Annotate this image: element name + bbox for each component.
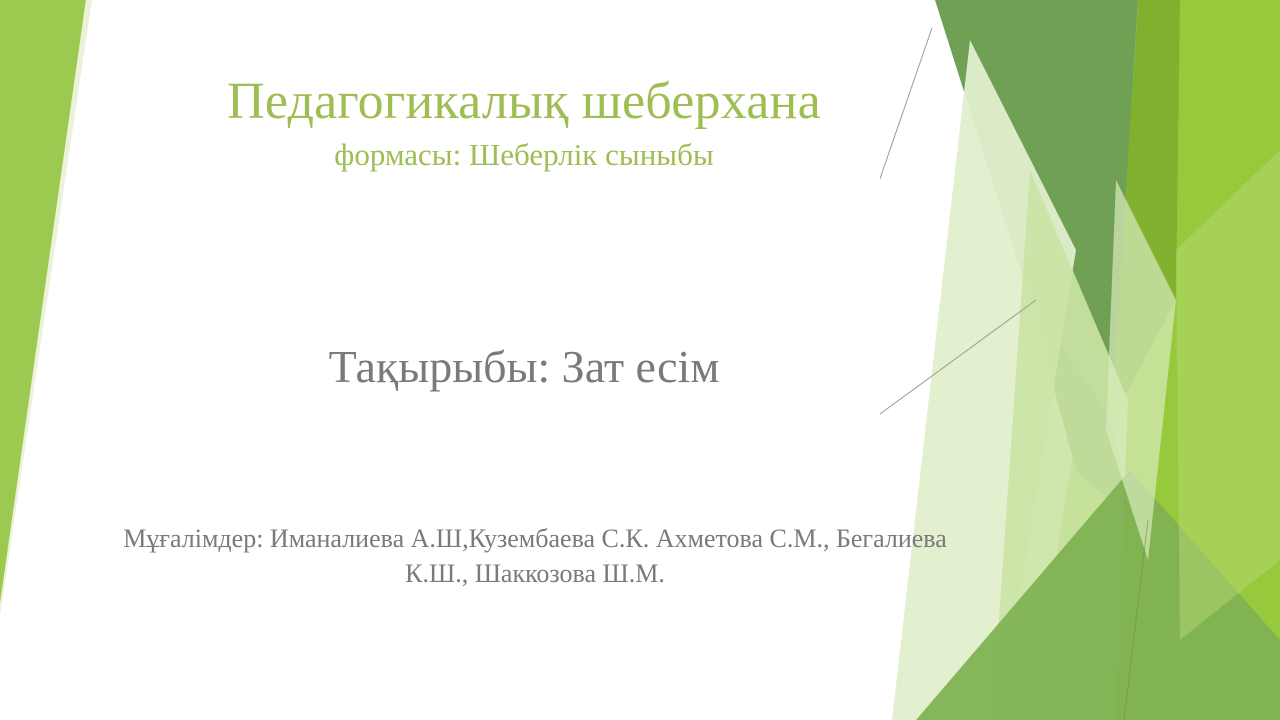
page-title: Педагогикалық шеберхана xyxy=(96,74,952,130)
authors-list: Мұғалімдер: Иманалиева А.Ш,Кузембаева С.… xyxy=(120,522,950,591)
authors-block: Мұғалімдер: Иманалиева А.Ш,Кузембаева С.… xyxy=(120,522,950,591)
presentation-slide: Педагогикалық шеберхана формасы: Шеберлі… xyxy=(0,0,1280,720)
slide-text-layer: Педагогикалық шеберхана формасы: Шеберлі… xyxy=(0,0,1280,720)
title-block: Педагогикалық шеберхана формасы: Шеберлі… xyxy=(96,74,952,173)
topic-heading: Тақырыбы: Зат есім xyxy=(96,341,952,394)
slide-subtitle: формасы: Шеберлік сыныбы xyxy=(96,136,952,173)
topic-block: Тақырыбы: Зат есім xyxy=(96,341,952,394)
